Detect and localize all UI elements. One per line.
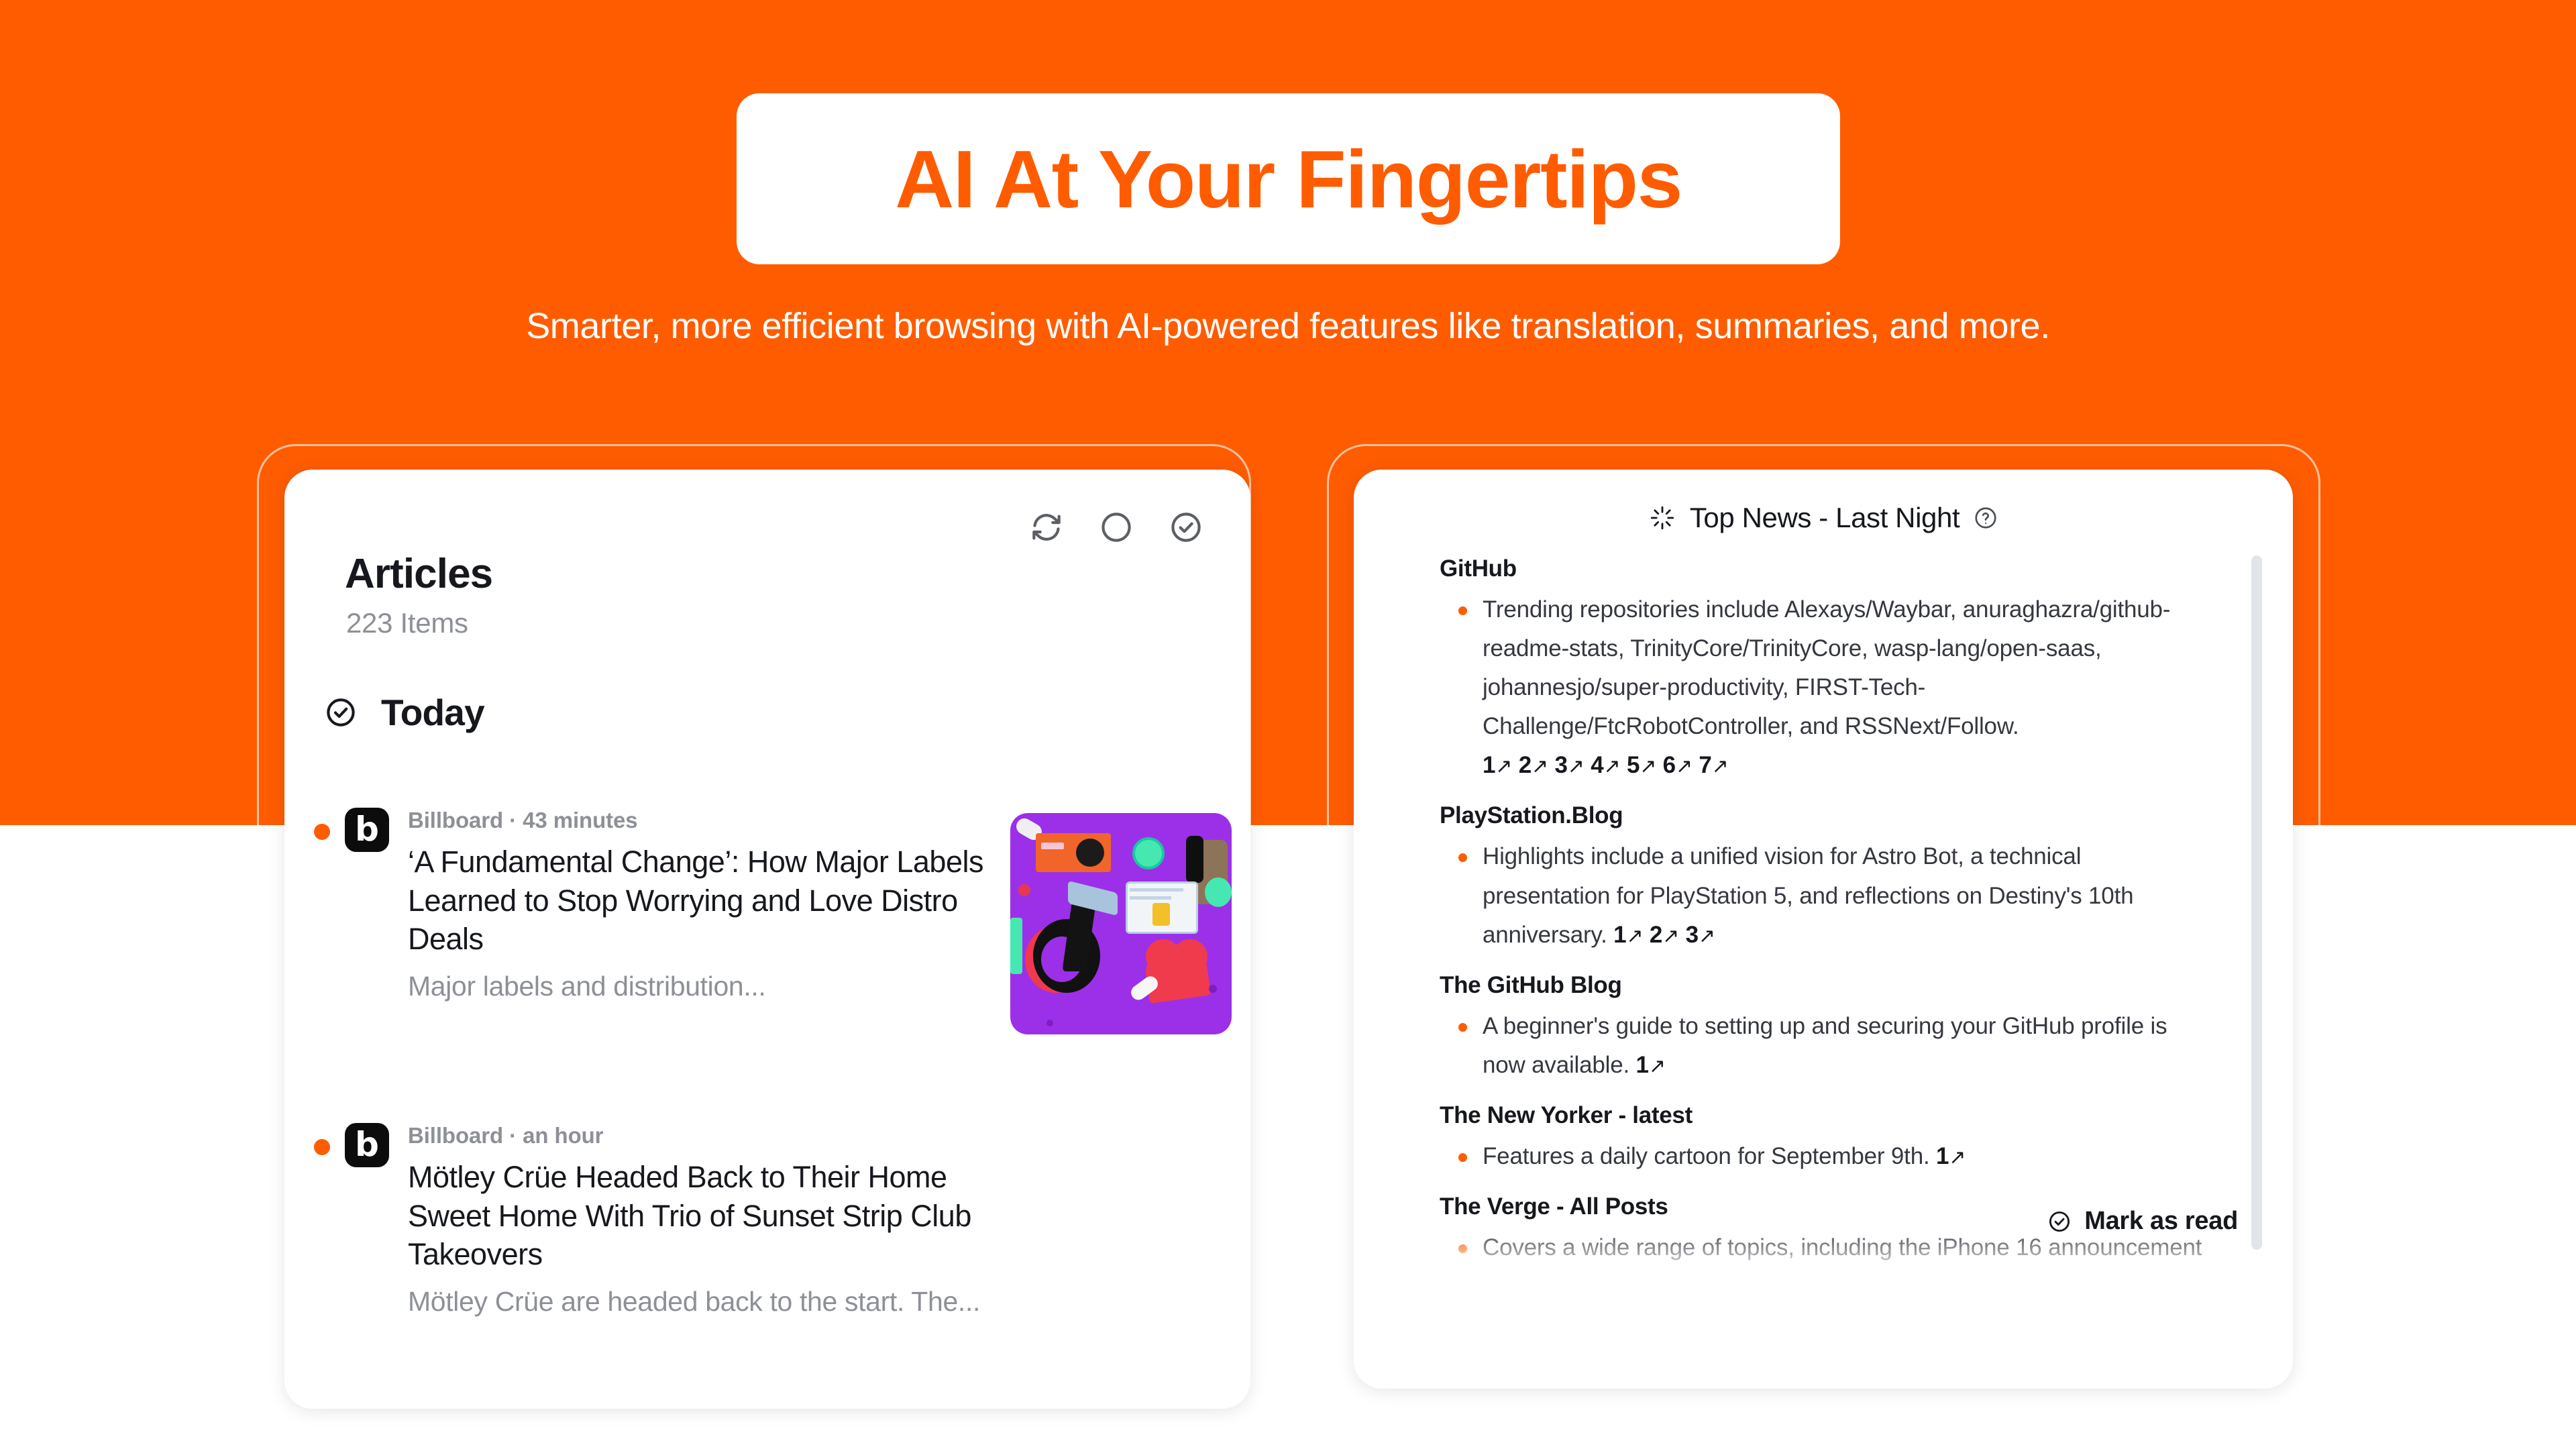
summary-feed-name: The New Yorker - latest [1440, 1102, 2212, 1129]
citation-link[interactable]: 3↗ [1554, 752, 1591, 778]
articles-toolbar [1028, 508, 1205, 546]
mark-as-read-label: Mark as read [2084, 1207, 2238, 1236]
summary-bullet-list: Trending repositories include Alexays/Wa… [1440, 590, 2212, 785]
unread-dot [314, 1139, 330, 1155]
article-headline: ‘A Fundamental Change’: How Major Labels… [408, 843, 998, 959]
summary-scroll-area[interactable]: GitHubTrending repositories include Alex… [1354, 555, 2293, 1293]
citation-link[interactable]: 6↗ [1663, 752, 1699, 778]
summary-bullet-list: Highlights include a unified vision for … [1440, 837, 2212, 954]
citation-link[interactable]: 1↗ [1636, 1052, 1666, 1078]
summary-feed-name: GitHub [1440, 555, 2212, 582]
summary-bullet-list: A beginner's guide to setting up and sec… [1440, 1007, 2212, 1085]
citation-link[interactable]: 1↗ [1613, 922, 1650, 948]
mark-all-read-check-circle-icon[interactable] [1167, 508, 1205, 546]
today-section-header[interactable]: Today [323, 691, 484, 734]
scrollbar-thumb[interactable] [2251, 555, 2262, 1250]
summary-bullet-list: Covers a wide range of topics, including… [1440, 1228, 2212, 1293]
summary-group: GitHubTrending repositories include Alex… [1440, 555, 2212, 785]
avatar: b [345, 1123, 389, 1167]
citation-link[interactable]: 4↗ [1591, 752, 1627, 778]
summary-bullet-list: Features a daily cartoon for September 9… [1440, 1137, 2212, 1176]
headline-pill: AI At Your Fingertips [737, 93, 1840, 264]
articles-item-count: 223 Items [346, 607, 468, 639]
list-item[interactable]: b Billboard · 43 minutes ‘A Fundamental … [284, 798, 1250, 1034]
list-item[interactable]: b Billboard · an hour Mötley Crüe Headed… [284, 1114, 1250, 1318]
summary-group: The GitHub BlogA beginner's guide to set… [1440, 972, 2212, 1085]
citation-link[interactable]: 1↗ [1772, 1273, 1802, 1293]
sparkle-icon [1648, 504, 1676, 532]
mark-as-read-button[interactable]: Mark as read [2047, 1207, 2238, 1236]
article-thumbnail [1010, 813, 1232, 1034]
summary-bullet: Trending repositories include Alexays/Wa… [1440, 590, 2212, 785]
article-body: Billboard · an hour Mötley Crüe Headed B… [408, 1114, 998, 1318]
page-title: AI At Your Fingertips [895, 138, 1682, 220]
citation-link[interactable]: 1↗ [1483, 752, 1519, 778]
citation-link[interactable]: 2↗ [1519, 752, 1555, 778]
summary-content: GitHubTrending repositories include Alex… [1354, 555, 2293, 1293]
article-headline: Mötley Crüe Headed Back to Their Home Sw… [408, 1158, 998, 1274]
citation-link[interactable]: 7↗ [1699, 752, 1728, 778]
citation-link[interactable]: 1↗ [1936, 1143, 1966, 1169]
summary-bullet: Covers a wide range of topics, including… [1440, 1228, 2212, 1293]
refresh-icon[interactable] [1028, 508, 1065, 546]
hero-subtitle: Smarter, more efficient browsing with AI… [0, 305, 2576, 347]
unread-dot [314, 824, 330, 840]
check-circle-icon [2047, 1209, 2072, 1234]
article-excerpt: Major labels and distribution... [408, 971, 998, 1002]
summary-feed-name: PlayStation.Blog [1440, 802, 2212, 829]
help-circle-icon[interactable] [1973, 505, 1998, 531]
avatar: b [345, 808, 389, 852]
today-label: Today [381, 691, 484, 734]
articles-card: Articles 223 Items Today b Billboard · 4… [284, 470, 1250, 1409]
summary-group: The New Yorker - latestFeatures a daily … [1440, 1102, 2212, 1176]
summary-title: Top News - Last Night [1690, 502, 1960, 534]
summary-group: PlayStation.BlogHighlights include a uni… [1440, 802, 2212, 954]
article-meta: Billboard · 43 minutes [408, 808, 998, 833]
article-excerpt: Mötley Crüe are headed back to the start… [408, 1286, 998, 1318]
article-meta: Billboard · an hour [408, 1123, 998, 1148]
summary-feed-name: The GitHub Blog [1440, 972, 2212, 999]
summary-bullet: A beginner's guide to setting up and sec… [1440, 1007, 2212, 1085]
citation-link[interactable]: 2↗ [1650, 922, 1686, 948]
articles-title: Articles [345, 550, 492, 598]
summary-bullet: Features a daily cartoon for September 9… [1440, 1137, 2212, 1176]
screenshot-root: AI At Your Fingertips Smarter, more effi… [0, 0, 2576, 1449]
check-circle-icon [323, 695, 358, 730]
unread-circle-icon[interactable] [1097, 508, 1135, 546]
summary-card: Top News - Last Night GitHubTrending rep… [1354, 470, 2293, 1389]
article-body: Billboard · 43 minutes ‘A Fundamental Ch… [408, 798, 998, 1034]
citation-link[interactable]: 5↗ [1627, 752, 1663, 778]
summary-bullet: Highlights include a unified vision for … [1440, 837, 2212, 954]
citation-link[interactable]: 3↗ [1686, 922, 1715, 948]
summary-header: Top News - Last Night [1354, 502, 2293, 534]
